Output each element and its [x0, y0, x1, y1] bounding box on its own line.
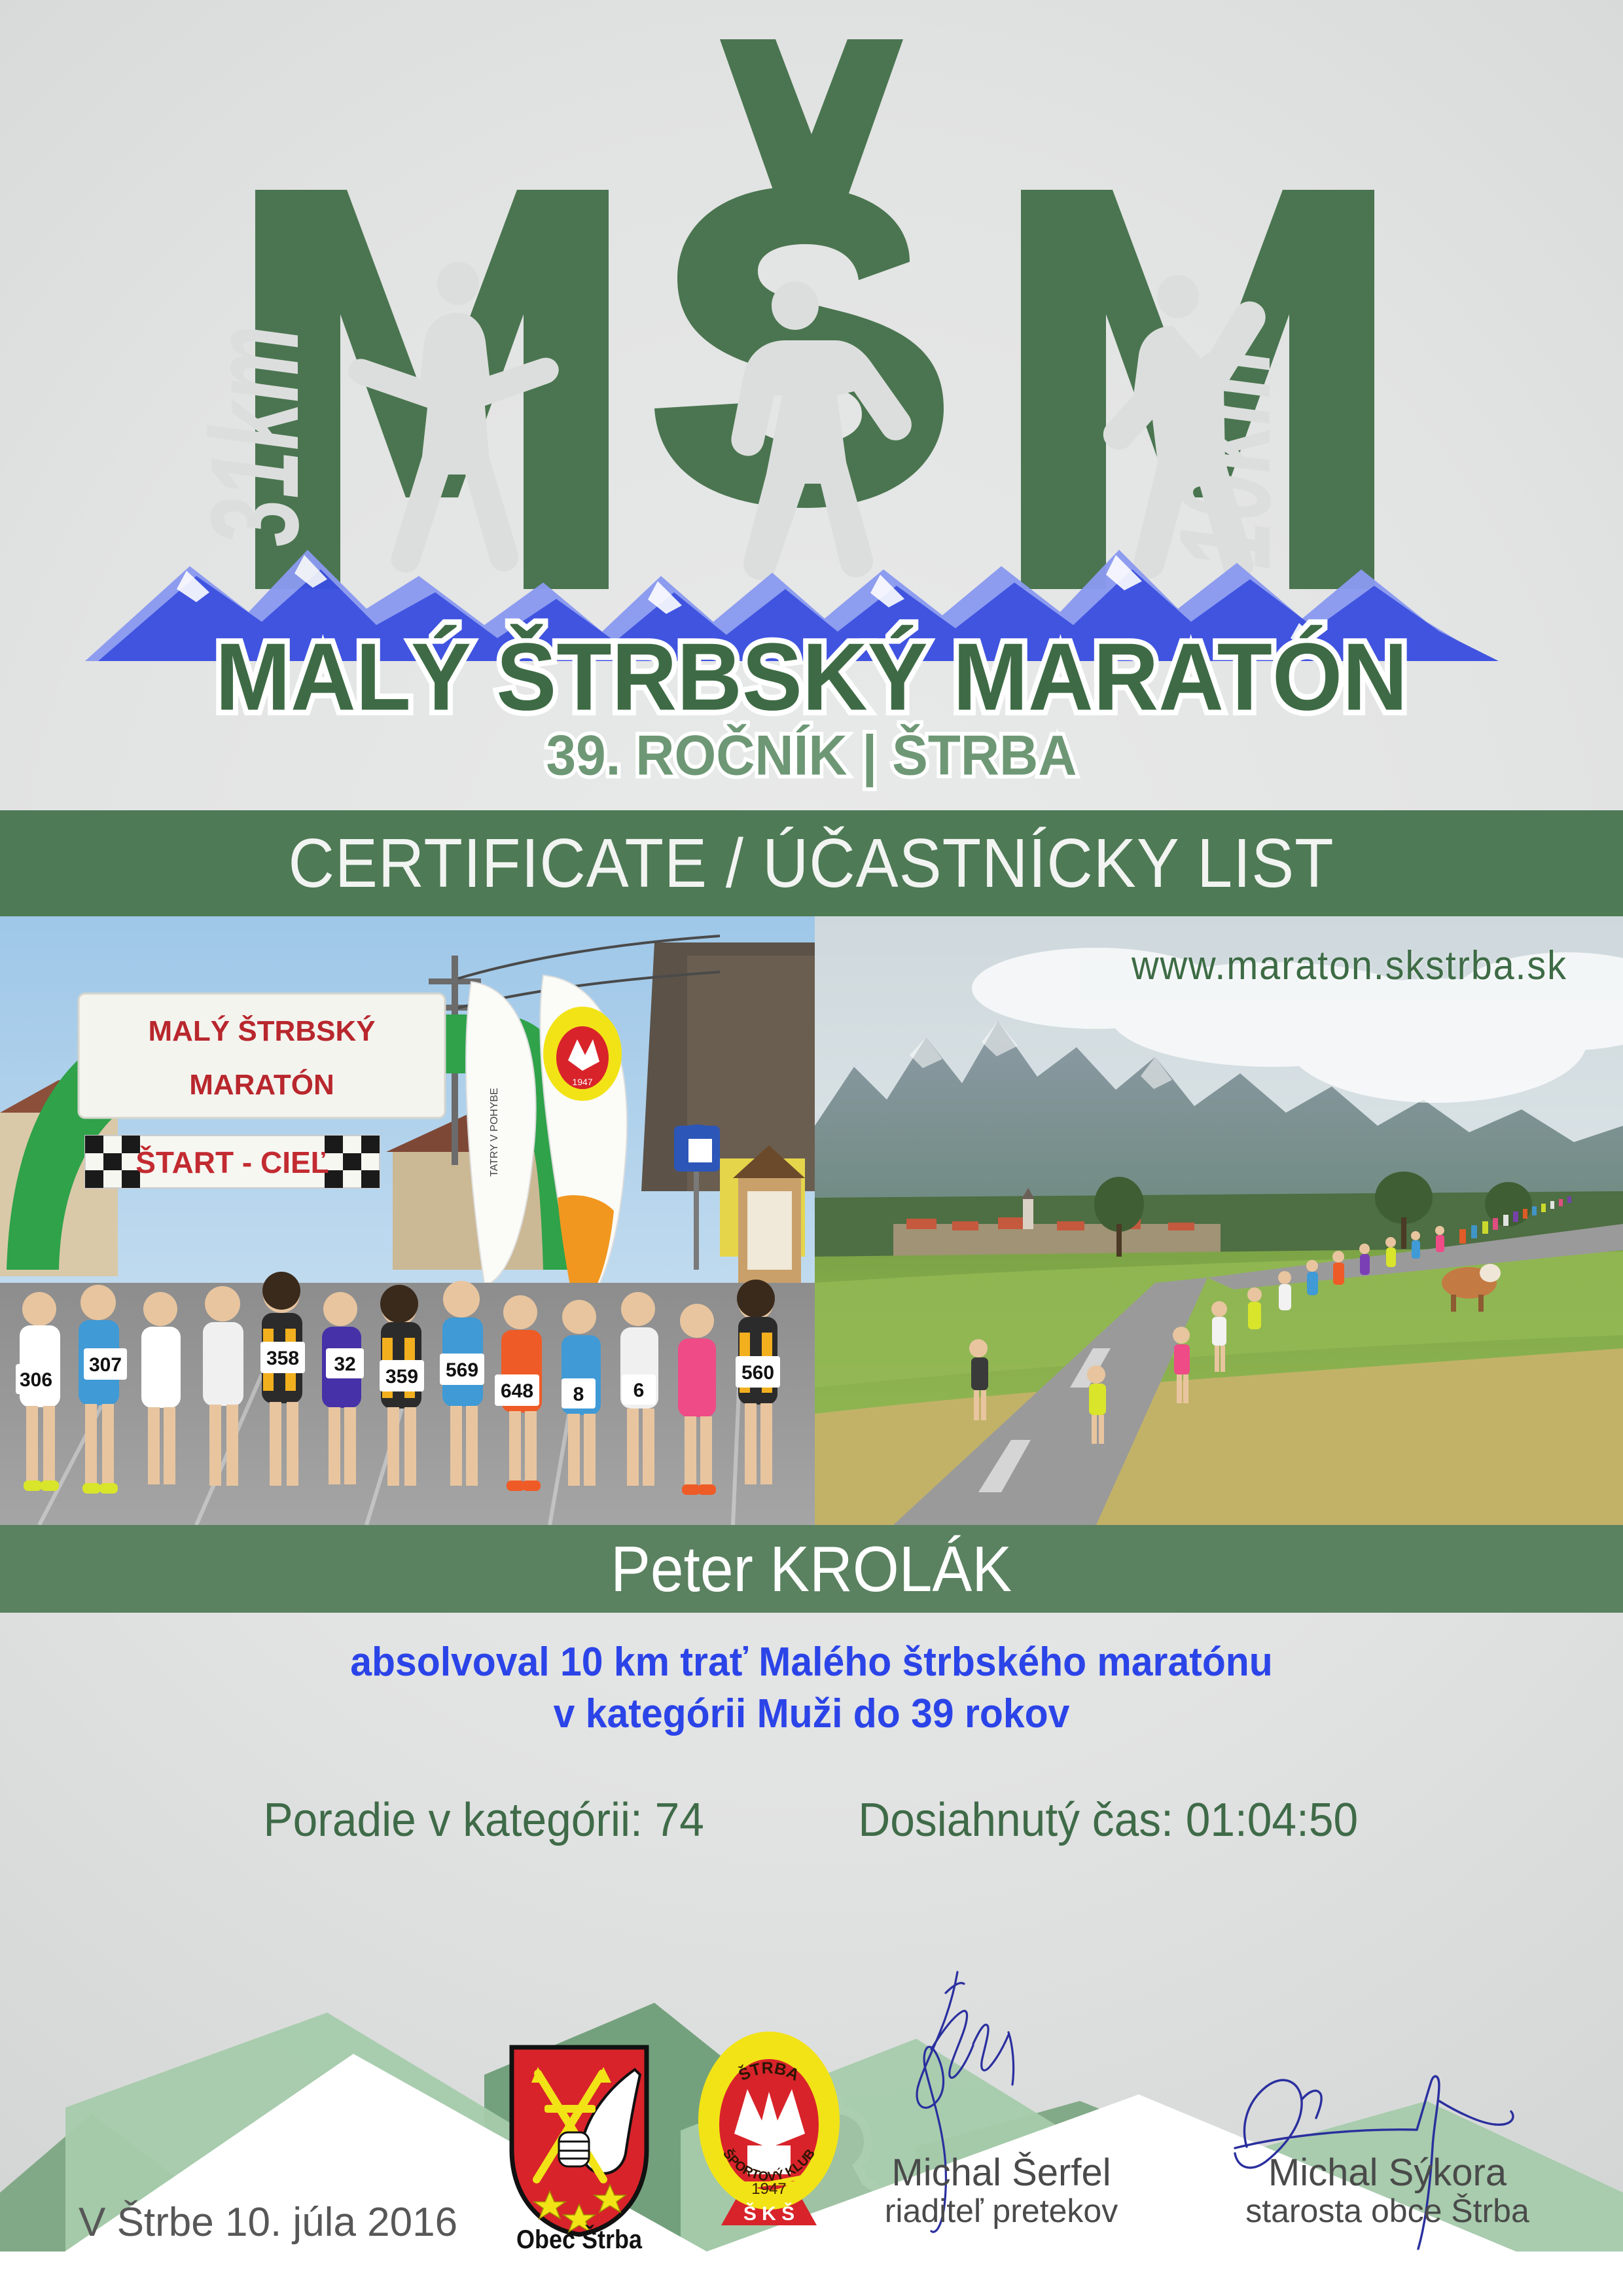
bib: 358 — [260, 1342, 305, 1373]
signature-block-mayor: Michal Sýkora starosta obce Štrba — [1217, 2153, 1558, 2229]
svg-text:307: 307 — [89, 1354, 122, 1376]
svg-text:560: 560 — [741, 1362, 774, 1384]
start-line-photo-graphic: MALÝ ŠTRBSKÝ MARATÓN ŠTART — [0, 916, 815, 1525]
start-line-photo: MALÝ ŠTRBSKÝ MARATÓN ŠTART — [0, 916, 815, 1525]
signature-block-director: Michal Šerfel riaditeľ pretekov — [844, 2153, 1158, 2229]
start-finish-banner: ŠTART - CIEĽ — [85, 1136, 380, 1188]
event-title-text: MALÝ ŠTRBSKÝ MARATÓN — [215, 623, 1408, 731]
obec-strba-label: Obec Štrba — [506, 2225, 653, 2255]
bib: 569 — [440, 1354, 484, 1385]
achievement-line-2: v kategórii Muži do 39 rokov — [41, 1688, 1582, 1740]
svg-text:8: 8 — [573, 1384, 584, 1405]
bib: 307 — [84, 1348, 127, 1380]
course-photo-graphic — [815, 916, 1623, 1525]
issue-date: V Štrbe 10. júla 2016 — [79, 2199, 457, 2246]
achievement-line-1: absolvoval 10 km trať Malého štrbského m… — [41, 1636, 1582, 1688]
logo-letter-m-left: 31km — [185, 190, 609, 589]
certificate-title: CERTIFICATE / ÚČASTNÍCKY LIST — [289, 824, 1334, 903]
distance-left-31km: 31km — [185, 325, 325, 547]
logo-letter-m-right: 10km — [1021, 190, 1374, 589]
arch-title-line2: MARATÓN — [189, 1068, 334, 1101]
svg-text:358: 358 — [266, 1348, 299, 1369]
certificate-page: 31km 10km — [0, 0, 1623, 2296]
bib: 648 — [495, 1374, 539, 1406]
runner-name-band: Peter KROLÁK — [0, 1525, 1623, 1613]
website-url[interactable]: www.maraton.skstrba.sk — [1132, 942, 1567, 989]
signatory-name: Michal Sýkora — [1217, 2153, 1558, 2193]
sks-club-logo-small: 1947 — [543, 1007, 622, 1101]
achievement-description: absolvoval 10 km trať Malého štrbského m… — [0, 1636, 1623, 1740]
svg-text:359: 359 — [385, 1366, 418, 1388]
flag-tatry-text: TATRY V POHYBE — [489, 1088, 500, 1177]
svg-text:1947: 1947 — [572, 1077, 592, 1087]
event-edition-text: 39. ROČNÍK | ŠTRBA — [546, 724, 1077, 787]
arch-title-line1: MALÝ ŠTRBSKÝ — [148, 1014, 375, 1047]
event-logo-area: 31km 10km — [0, 0, 1623, 795]
bib: 32 — [326, 1348, 364, 1378]
svg-text:31km: 31km — [185, 325, 325, 547]
svg-text:32: 32 — [334, 1354, 355, 1375]
certificate-title-band: CERTIFICATE / ÚČASTNÍCKY LIST — [0, 810, 1623, 916]
svg-text:6: 6 — [633, 1380, 645, 1401]
arch-start-finish-text: ŠTART - CIEĽ — [135, 1145, 329, 1179]
runner-name: Peter KROLÁK — [611, 1532, 1012, 1606]
svg-text:569: 569 — [446, 1359, 478, 1381]
sks-club-crest-icon: 1947 ŠTRBA ŠPORTOVÝ KLUB Š K Š — [694, 2029, 844, 2245]
category-rank: Poradie v kategórii: 74 — [263, 1793, 704, 1847]
signatory-role: starosta obce Štrba — [1217, 2193, 1558, 2229]
bib: 306 — [16, 1364, 56, 1394]
obec-strba-coat-of-arms-icon — [504, 2042, 654, 2238]
bib: 8 — [562, 1378, 596, 1408]
logo-letter-s — [654, 39, 944, 580]
sks-initials: Š K Š — [743, 2202, 794, 2225]
svg-text:648: 648 — [501, 1380, 533, 1402]
caron-accent — [720, 39, 903, 206]
svg-text:306: 306 — [20, 1369, 52, 1391]
bib: 6 — [622, 1374, 656, 1405]
msm-logo-svg: 31km 10km — [0, 0, 1623, 795]
bib: 560 — [736, 1356, 780, 1388]
bib: 359 — [380, 1360, 424, 1391]
signatory-role: riaditeľ pretekov — [844, 2193, 1158, 2229]
course-photo: www.maraton.skstrba.sk — [815, 916, 1623, 1525]
results-row: Poradie v kategórii: 74 Dosiahnutý čas: … — [0, 1793, 1623, 1847]
signatory-name: Michal Šerfel — [844, 2153, 1158, 2193]
photo-strip: MALÝ ŠTRBSKÝ MARATÓN ŠTART — [0, 916, 1623, 1525]
finish-time: Dosiahnutý čas: 01:04:50 — [858, 1793, 1358, 1847]
